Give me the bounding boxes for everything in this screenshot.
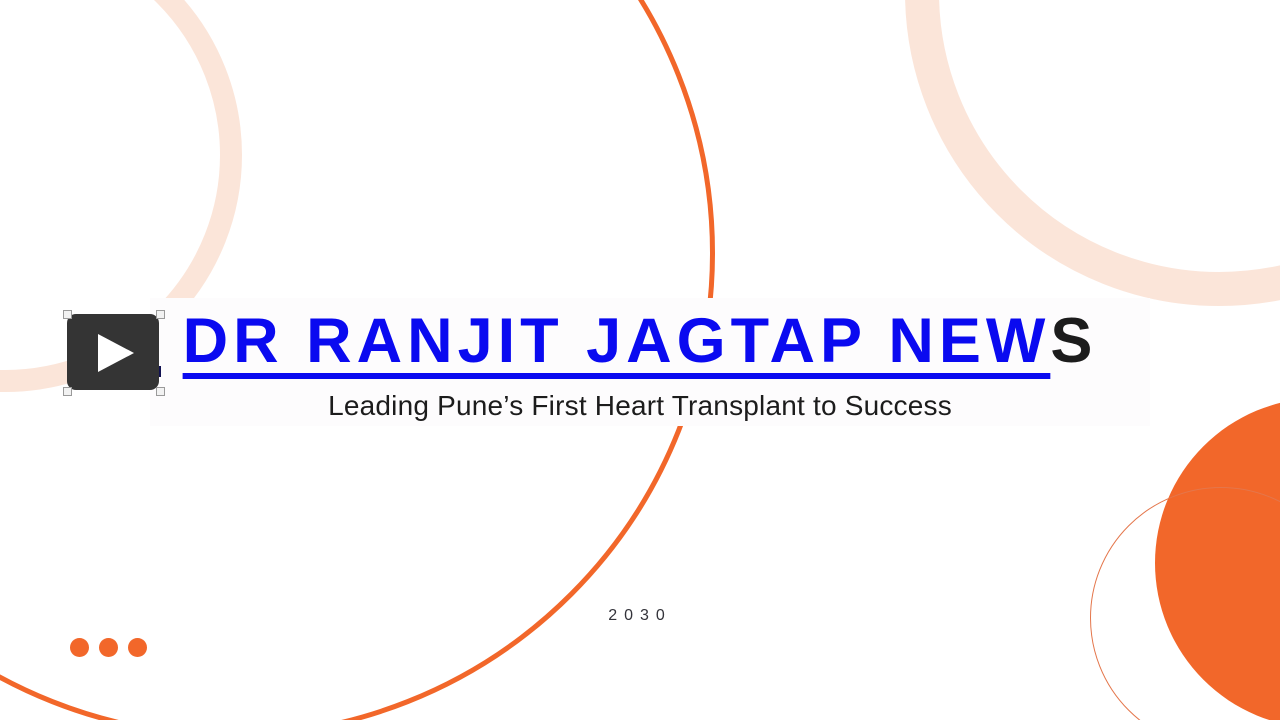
selection-handle-top-right[interactable] bbox=[156, 310, 165, 319]
presentation-slide: DR RANJIT JAGTAP NEWS Leading Pune’s Fir… bbox=[0, 0, 1280, 720]
title-block: DR RANJIT JAGTAP NEWS bbox=[0, 306, 1280, 377]
title-trailing-text: S bbox=[1050, 306, 1097, 376]
selection-handle-bottom-right[interactable] bbox=[156, 387, 165, 396]
page-title: DR RANJIT JAGTAP NEWS bbox=[0, 306, 1280, 377]
video-play-overlay[interactable] bbox=[67, 314, 159, 390]
play-icon[interactable] bbox=[98, 334, 134, 372]
page-subtitle: Leading Pune’s First Heart Transplant to… bbox=[0, 390, 1280, 422]
year-label: 2030 bbox=[0, 607, 1280, 625]
title-hyperlink[interactable]: DR RANJIT JAGTAP NEW bbox=[183, 306, 1051, 376]
selection-handle-top-left[interactable] bbox=[63, 310, 72, 319]
slide-content: DR RANJIT JAGTAP NEWS Leading Pune’s Fir… bbox=[0, 0, 1280, 720]
selection-handle-bottom-left[interactable] bbox=[63, 387, 72, 396]
